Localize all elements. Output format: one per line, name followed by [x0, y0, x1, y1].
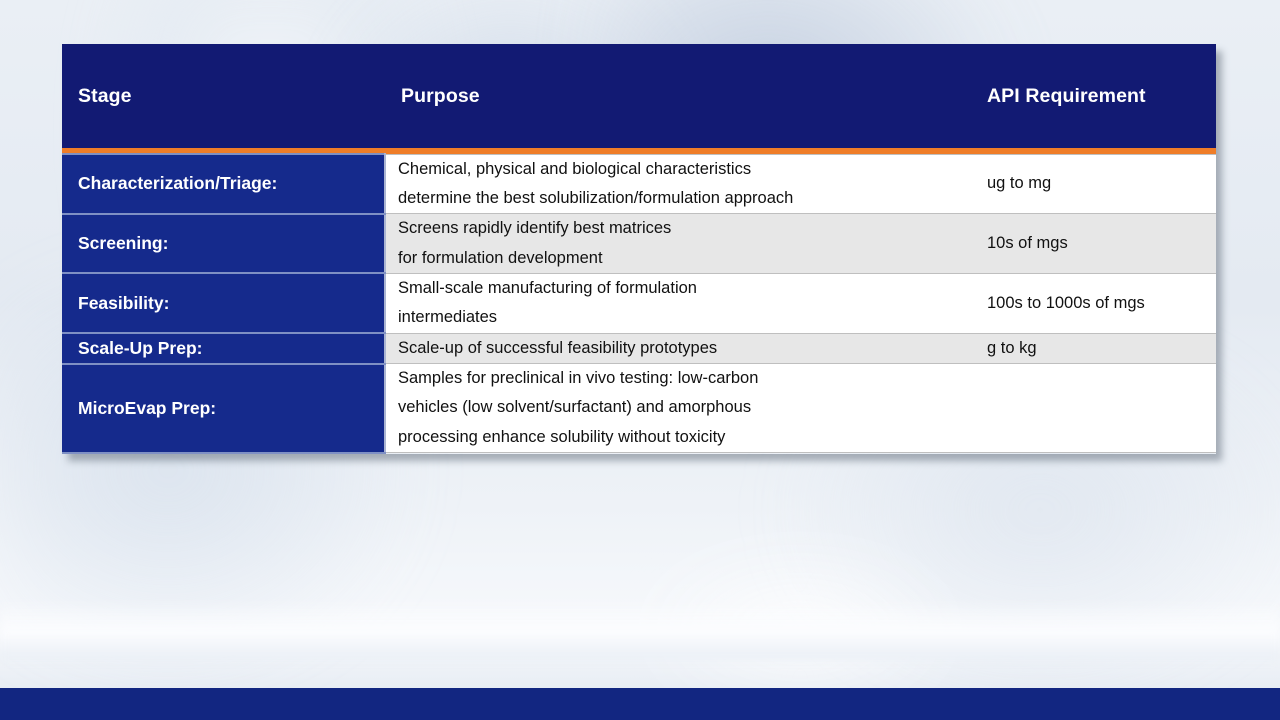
cell-purpose: Small-scale manufacturing of formulation… [385, 273, 973, 333]
table-row: Scale-Up Prep: Scale-up of successful fe… [62, 333, 1216, 363]
table-body: Characterization/Triage: Chemical, physi… [62, 148, 1216, 453]
cell-stage: Characterization/Triage: [62, 154, 385, 214]
table-row: Screening: Screens rapidly identify best… [62, 214, 1216, 274]
cell-purpose: Screens rapidly identify best matrices f… [385, 214, 973, 274]
purpose-line: determine the best solubilization/formul… [398, 184, 961, 213]
cell-purpose: Samples for preclinical in vivo testing:… [385, 364, 973, 453]
stage-matrix-table-container: Stage Purpose API Requirement Characteri… [62, 44, 1216, 454]
cell-api-requirement: 10s of mgs [973, 214, 1216, 274]
purpose-line: Screens rapidly identify best matrices [398, 214, 961, 243]
cell-stage: Screening: [62, 214, 385, 274]
purpose-line: for formulation development [398, 244, 961, 273]
table-row: Feasibility: Small-scale manufacturing o… [62, 273, 1216, 333]
purpose-line: vehicles (low solvent/surfactant) and am… [398, 393, 961, 422]
table-header: Stage Purpose API Requirement [62, 44, 1216, 148]
slide-bottom-bar [0, 688, 1280, 720]
cell-api-requirement: ug to mg [973, 154, 1216, 214]
cell-api-requirement: g to kg [973, 333, 1216, 363]
table-row: Characterization/Triage: Chemical, physi… [62, 154, 1216, 214]
purpose-line: intermediates [398, 303, 961, 332]
cell-stage: Feasibility: [62, 273, 385, 333]
cell-api-requirement: 100s to 1000s of mgs [973, 273, 1216, 333]
cell-api-requirement [973, 364, 1216, 453]
purpose-line: Samples for preclinical in vivo testing:… [398, 364, 961, 393]
cell-purpose: Chemical, physical and biological charac… [385, 154, 973, 214]
cell-stage: Scale-Up Prep: [62, 333, 385, 363]
purpose-line: Chemical, physical and biological charac… [398, 155, 961, 184]
column-header-api-requirement: API Requirement [973, 44, 1216, 148]
purpose-line: Scale-up of successful feasibility proto… [398, 334, 961, 363]
column-header-stage: Stage [62, 44, 385, 148]
purpose-line: Small-scale manufacturing of formulation [398, 274, 961, 303]
cell-stage: MicroEvap Prep: [62, 364, 385, 453]
table-header-row: Stage Purpose API Requirement [62, 44, 1216, 148]
column-header-purpose: Purpose [385, 44, 973, 148]
background-sheen [0, 600, 1280, 660]
stage-matrix-table: Stage Purpose API Requirement Characteri… [62, 44, 1216, 454]
purpose-line: processing enhance solubility without to… [398, 423, 961, 452]
table-row: MicroEvap Prep: Samples for preclinical … [62, 364, 1216, 453]
cell-purpose: Scale-up of successful feasibility proto… [385, 333, 973, 363]
